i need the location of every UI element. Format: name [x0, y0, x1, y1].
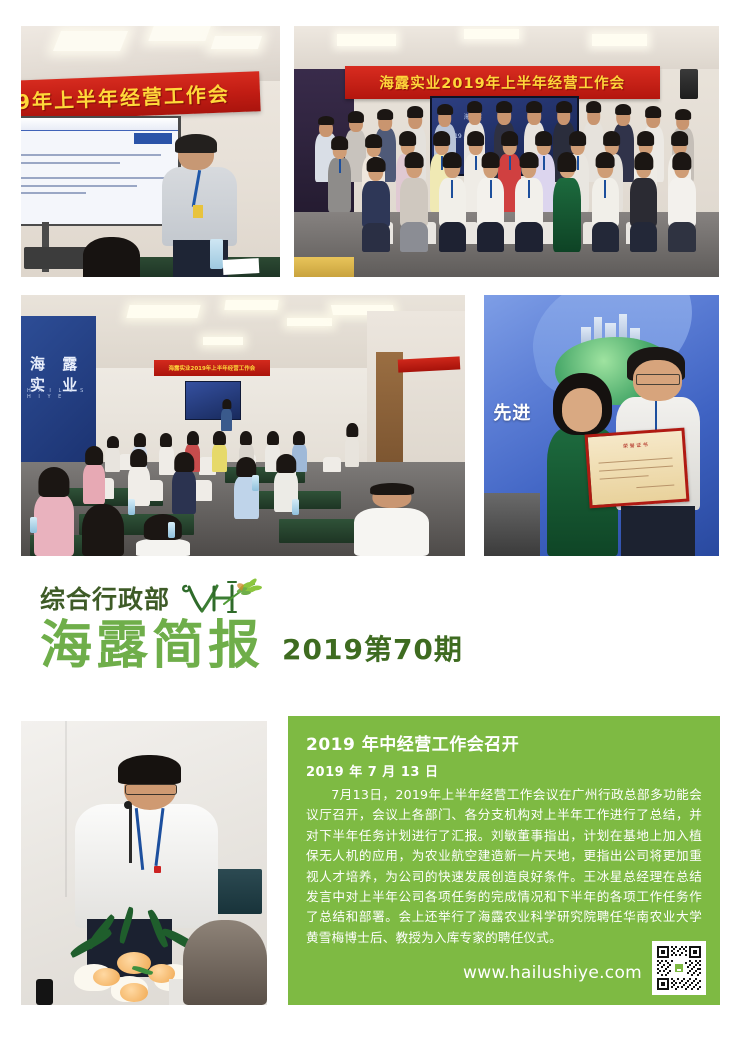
photo2-person-hair	[378, 109, 394, 120]
photo3-attendee-foreground	[34, 467, 74, 556]
photo2-person-lanyard	[339, 159, 341, 173]
photo2-person-hair	[366, 157, 385, 172]
photo2-person-hair	[437, 104, 453, 116]
photo4-certificate: 荣 誉 证 书	[585, 427, 690, 508]
title-line: 海露简报 2019第70期	[40, 620, 463, 672]
photo2-person-body	[400, 178, 428, 226]
photo1-foreground-attendee	[83, 237, 140, 277]
photo2-yellow-table	[294, 257, 354, 277]
photo1-ceiling-light	[148, 26, 210, 41]
issue-number: 2019第70期	[282, 628, 463, 672]
photo2-person-hair	[671, 131, 689, 145]
photo1-ceiling-light	[53, 31, 128, 51]
photo3-attendee-hair	[277, 454, 297, 472]
photo2-person-seated	[362, 157, 390, 252]
photo2-person-hair	[634, 152, 653, 170]
photo2-person-legs	[630, 222, 658, 252]
photo2-person-legs	[439, 222, 467, 252]
photo-podium-speaker	[21, 721, 267, 1005]
company-logo-icon	[180, 578, 264, 618]
photo5-microphone-head	[124, 801, 132, 809]
photo5-rose	[120, 983, 147, 1002]
photo3-attendee-hair	[347, 423, 358, 437]
website-url[interactable]: www.hailushiye.com	[463, 963, 642, 995]
photo2-person-hair	[405, 152, 424, 168]
photo5-microphone-stem	[129, 806, 132, 863]
photo4-certificate-line	[600, 465, 673, 471]
page-title: 海露简报	[40, 620, 264, 672]
photo3-attendee-body	[136, 539, 189, 556]
photo3-attendee-hair	[267, 431, 279, 445]
photo2-person-lanyard	[528, 180, 530, 198]
photo2-person-hair	[467, 101, 483, 113]
photo4-certificate-line	[600, 475, 649, 479]
photo3-attendee	[105, 436, 120, 473]
photo1-speaker-hair	[175, 134, 217, 154]
photo2-person-seated	[477, 152, 505, 252]
photo5-speaker-badge-pin	[154, 866, 161, 873]
photo2-person-lanyard	[509, 156, 511, 170]
photo2-person-legs	[515, 222, 543, 252]
photo4-certificate-line	[599, 457, 672, 463]
photo3-water-bottle	[252, 475, 259, 491]
photo3-attendee-hair	[293, 431, 305, 445]
article-footer: www.hailushiye.com	[463, 941, 706, 995]
photo2-person-hair	[501, 131, 519, 145]
photo3-attendee-foreground	[79, 504, 128, 556]
photo3-attendee	[83, 446, 105, 503]
photo3-attendee-hair	[240, 431, 252, 445]
photo2-person-legs	[477, 222, 505, 252]
photo2-person-hair	[348, 111, 364, 122]
photo3-presenter-hair	[222, 399, 231, 409]
photo2-person-body	[553, 178, 581, 252]
photo3-attendee-hair	[187, 431, 199, 445]
photo3-backdrop-subtext: H A I L U S H I Y E	[27, 388, 96, 400]
photo3-attendee-body	[345, 436, 359, 467]
photo1-projector-screen	[21, 116, 181, 225]
photo1-water-bottle	[210, 239, 223, 269]
photo2-person-hair	[616, 104, 632, 116]
photo2-person-hair	[586, 101, 602, 113]
photo2-person-lanyard	[490, 180, 492, 198]
photo2-person-hair	[318, 116, 334, 125]
article-panel: 2019 年中经营工作会召开 2019 年 7 月 13 日 7月13日，201…	[288, 716, 720, 1005]
photo1-slide-header	[21, 118, 178, 131]
photo4-certificate-title: 荣 誉 证 书	[623, 441, 648, 450]
photo4-certificate-line	[637, 484, 675, 488]
photo2-person-hair	[433, 131, 451, 145]
photo1-slide-line	[21, 185, 137, 187]
photo2-person-legs	[400, 222, 428, 252]
photo2-person-hair	[467, 131, 485, 145]
photo4-man-glasses	[636, 374, 680, 384]
photo3-presenter-body	[221, 409, 233, 431]
photo2-person-middle	[328, 136, 351, 211]
photo2-person-seated	[400, 152, 428, 252]
photo2-ceiling-light	[337, 34, 397, 47]
photo3-attendee	[345, 423, 359, 467]
photo5-wall-corner	[65, 721, 67, 897]
photo-conference-room: 海 露 实 业 H A I L U S H I Y E 海露实业2019年上半年…	[21, 295, 465, 556]
photo2-person-seated	[668, 152, 696, 252]
photo1-banner-text: 9年上半年经营工作会	[21, 78, 230, 115]
photo2-person-seated	[630, 152, 658, 252]
photo2-person-hair	[672, 152, 691, 170]
photo3-attendee-body	[34, 494, 74, 556]
photo2-person-seated	[515, 152, 543, 252]
photo3-attendee-hair	[85, 446, 103, 464]
photo4-podium	[484, 493, 540, 556]
photo2-person-hair	[569, 131, 587, 145]
photo2-person-lanyard	[543, 156, 545, 170]
photo5-mic-base	[36, 979, 53, 1005]
photo3-attendee	[212, 431, 227, 473]
photo3-ceiling-light	[287, 318, 331, 326]
photo2-ceiling-light	[464, 29, 519, 39]
photo3-attendee-hair	[174, 452, 194, 472]
photo2-person-hair	[497, 101, 513, 113]
newsletter-page: 9年上半年经营工作会	[0, 0, 740, 1047]
photo3-ceiling-light	[126, 305, 200, 318]
photo2-person-body	[362, 181, 390, 227]
photo3-attendee	[128, 449, 150, 506]
photo2-person-seated	[439, 152, 467, 252]
photo5-foreground-attendee-head	[183, 920, 267, 1005]
photo2-red-banner: 海露实业2019年上半年经营工作会	[345, 66, 660, 99]
photo3-attendee-body	[172, 470, 196, 514]
photo1-av-cart	[24, 247, 91, 270]
photo-group-photo: 海露实业2019年上半年经营工作会 海露实 2019 上半	[294, 26, 719, 277]
photo3-attendee-foreground	[136, 514, 189, 556]
qr-code-icon[interactable]	[652, 941, 706, 995]
photo1-slide-line	[21, 192, 86, 194]
photo3-ceiling-light	[203, 337, 243, 345]
photo5-speaker-glasses	[125, 784, 177, 795]
article-body-text: 7月13日，2019年上半年经营工作会议在广州行政总部多功能会议厅召开，会议上各…	[306, 785, 702, 948]
photo5-speaker-hair	[118, 755, 181, 784]
photo2-person-hair	[557, 152, 576, 172]
photo2-person-body	[668, 178, 696, 226]
photo2-person-hair	[365, 134, 383, 148]
photo2-person-hair	[399, 131, 417, 145]
photo3-attendee-body	[83, 464, 105, 504]
photo3-attendee-hair	[213, 431, 225, 445]
photo1-slide-line	[21, 162, 120, 164]
photo2-person-hair	[481, 152, 500, 168]
photo2-person-legs	[362, 223, 390, 252]
photo5-speaker-shirt	[75, 804, 218, 928]
photo3-ceiling-light	[225, 300, 280, 310]
photo3-attendee-hair	[130, 449, 148, 467]
photo5-rose	[93, 968, 120, 987]
photo3-attendee-hair	[82, 504, 124, 556]
photo3-banner-text: 海露实业2019年上半年经营工作会	[154, 360, 269, 376]
photo3-water-bottle	[128, 499, 135, 515]
photo2-person-hair	[443, 152, 462, 168]
photo2-person-hair	[519, 152, 538, 168]
photo2-person-hair	[596, 152, 615, 168]
photo3-water-bottle	[30, 517, 37, 533]
masthead: 综合行政部	[0, 566, 740, 716]
photo3-attendee-hair	[160, 433, 172, 446]
photo3-attendee-hair	[39, 467, 70, 497]
photo3-water-bottle	[292, 499, 299, 515]
photo2-person-legs	[592, 222, 620, 252]
department-label: 综合行政部	[40, 580, 170, 616]
photo3-red-banner-secondary	[398, 356, 461, 372]
photo2-person-lanyard	[604, 180, 606, 198]
photo2-person-hair	[407, 106, 423, 117]
photo2-person-hair	[637, 131, 655, 145]
photo-speaker-screen: 9年上半年经营工作会	[21, 26, 280, 277]
photo3-attendee-hair	[370, 483, 414, 495]
photo2-person-seated-green-dress	[553, 152, 581, 252]
photo3-attendee-hair	[144, 514, 182, 540]
photo1-slide-line	[21, 177, 165, 179]
article-date: 2019 年 7 月 13 日	[306, 761, 702, 780]
photo3-attendee-body	[354, 508, 429, 556]
photo2-ceiling-light	[592, 34, 647, 47]
photo2-person-hair	[331, 136, 349, 150]
photo2-person-seated	[592, 152, 620, 252]
photo2-person-body	[630, 178, 658, 226]
photo2-person-hair	[645, 106, 661, 117]
photo1-ceiling-light	[211, 36, 262, 49]
photo3-attendee-body	[105, 448, 120, 473]
photo2-banner-text: 海露实业2019年上半年经营工作会	[345, 66, 660, 99]
photo3-attendee	[172, 452, 196, 515]
photo1-speaker-folder	[193, 205, 202, 218]
photo2-person-hair	[675, 109, 691, 120]
photo3-attendee-hair	[237, 457, 257, 477]
photo3-presenter	[221, 399, 233, 430]
photo2-person-hair	[603, 131, 621, 145]
photo1-name-card	[223, 259, 260, 276]
photo2-person-legs	[668, 222, 696, 252]
department-line: 综合行政部	[40, 578, 264, 618]
photo1-slide-line	[21, 154, 161, 156]
photo2-speaker-box	[680, 69, 698, 99]
photo3-attendee-hair	[107, 436, 119, 448]
photo1-speaker	[161, 136, 239, 277]
photo2-person-hair	[526, 101, 542, 113]
photo3-chair	[323, 457, 341, 473]
photo-award-ceremony: 先进 荣 誉 证 书	[484, 295, 719, 556]
photo3-attendee-hair	[134, 433, 146, 446]
photo2-person-hair	[556, 101, 572, 113]
photo4-woman-face	[562, 388, 603, 432]
photo3-attendee-body	[212, 444, 227, 472]
article-headline: 2019 年中经营工作会召开	[306, 730, 702, 755]
photo3-water-bottle	[168, 522, 175, 538]
photo3-attendee-foreground	[354, 483, 429, 556]
photo4-screen-text: 先进	[493, 399, 531, 425]
photo3-red-banner: 海露实业2019年上半年经营工作会	[154, 360, 269, 376]
photo4-man-trousers	[621, 506, 695, 556]
photo2-person-hair	[535, 131, 553, 145]
photo2-person-lanyard	[451, 180, 453, 198]
